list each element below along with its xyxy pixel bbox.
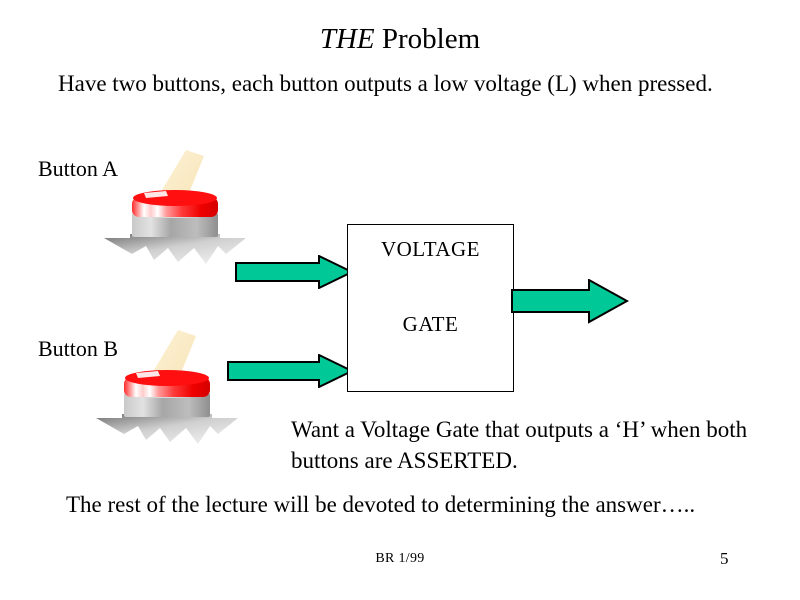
gate-label-bottom: GATE <box>348 312 513 337</box>
input-arrow-b <box>227 354 354 388</box>
gate-label-top: VOLTAGE <box>348 237 513 262</box>
output-arrow <box>511 279 629 324</box>
intro-paragraph: Have two buttons, each button outputs a … <box>58 68 718 99</box>
splash-shape <box>104 234 246 264</box>
title-emphasis: THE <box>320 23 375 55</box>
splash-shape <box>96 414 238 444</box>
title-rest: Problem <box>375 23 481 55</box>
footer-page-number: 5 <box>720 549 760 569</box>
push-button-b-icon <box>92 330 242 445</box>
slide-canvas: THE Problem Have two buttons, each butto… <box>0 0 800 600</box>
input-arrow-a <box>235 255 354 289</box>
voltage-gate-box: VOLTAGE GATE <box>347 224 514 392</box>
want-paragraph: Want a Voltage Gate that outputs a ‘H’ w… <box>291 414 771 476</box>
push-button-a-icon <box>100 150 250 265</box>
footer-credit: BR 1/99 <box>0 551 800 567</box>
rest-paragraph: The rest of the lecture will be devoted … <box>66 489 766 520</box>
page-title: THE Problem <box>0 22 800 56</box>
